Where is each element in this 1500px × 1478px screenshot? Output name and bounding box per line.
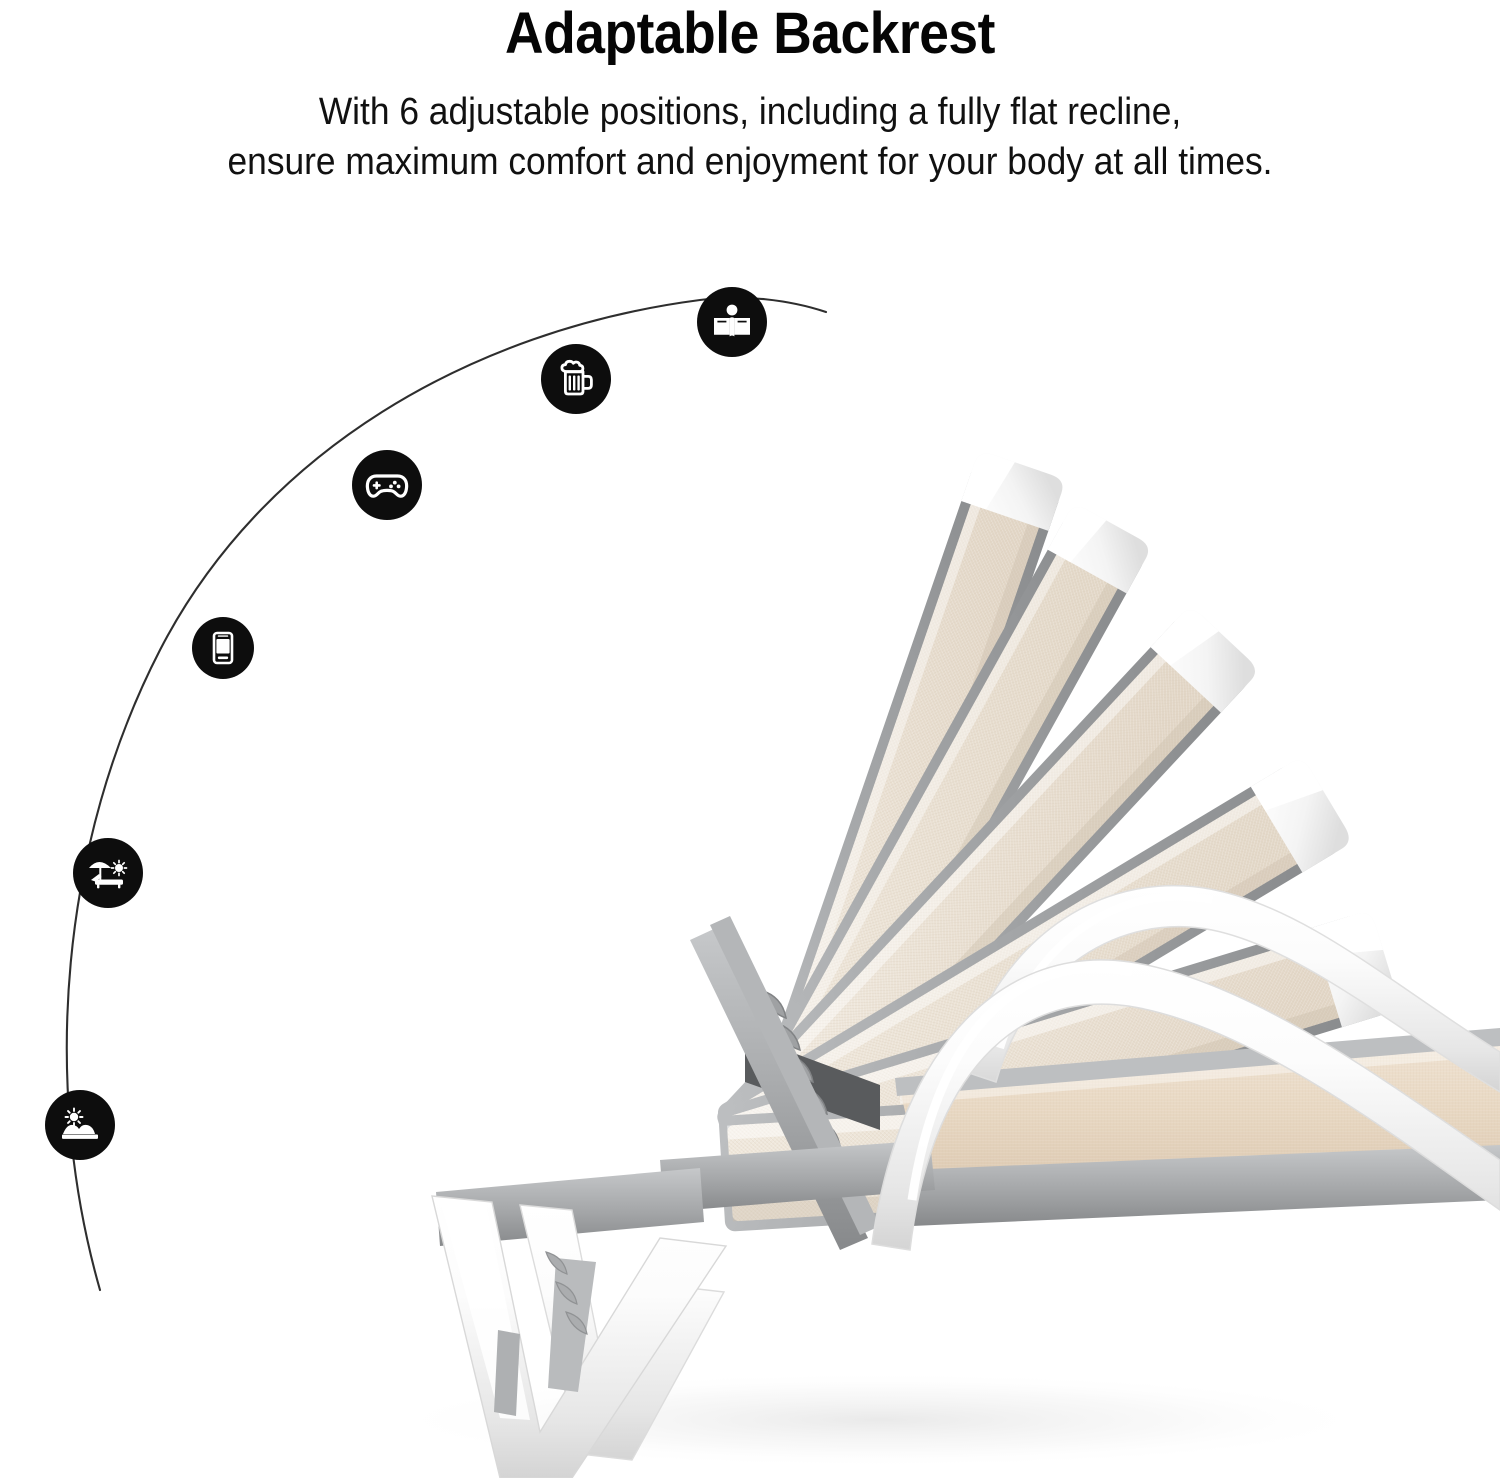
mobile-phone-icon [192, 617, 254, 679]
page-subtitle: With 6 adjustable positions, including a… [53, 65, 1448, 187]
header-block: Adaptable Backrest With 6 adjustable pos… [0, 0, 1500, 187]
sun-lounger-icon [73, 838, 143, 908]
page-title: Adaptable Backrest [60, 0, 1440, 65]
game-controller-icon [352, 450, 422, 520]
person-reading-icon [697, 287, 767, 357]
recline-arc-line [67, 298, 826, 1290]
subtitle-line-2: ensure maximum comfort and enjoyment for… [53, 137, 1448, 187]
sun-beach-icon [45, 1090, 115, 1160]
subtitle-line-1: With 6 adjustable positions, including a… [53, 87, 1448, 137]
product-illustration [0, 0, 1500, 1478]
beer-mug-icon [541, 344, 611, 414]
